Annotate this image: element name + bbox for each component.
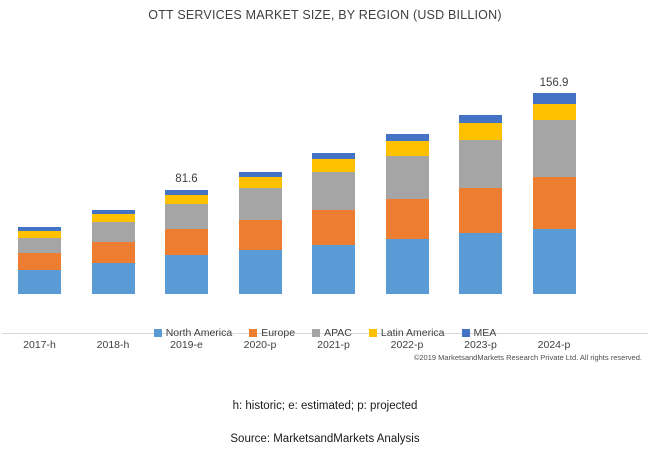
legend-swatch-icon: [312, 329, 320, 337]
bar-segment-europe[interactable]: [18, 253, 61, 270]
legend-swatch-icon: [154, 329, 162, 337]
x-axis-tick-label: 2024-p: [519, 339, 590, 351]
bar-segment-apac[interactable]: [92, 222, 135, 242]
stacked-bar[interactable]: [386, 134, 429, 294]
bar-segment-north-america[interactable]: [18, 270, 61, 294]
bar-group[interactable]: [459, 1, 502, 294]
bar-group[interactable]: [312, 1, 355, 294]
bar-segment-latin-america[interactable]: [312, 159, 355, 172]
x-axis-tick-label: 2021-p: [298, 339, 369, 351]
stacked-bar[interactable]: [533, 93, 576, 294]
x-axis-tick-label: 2022-p: [372, 339, 443, 351]
legend-item-north-america[interactable]: North America: [154, 327, 233, 339]
bar-group[interactable]: [239, 1, 282, 294]
bar-segment-latin-america[interactable]: [386, 141, 429, 156]
stacked-bar[interactable]: [239, 172, 282, 294]
legend-item-mea[interactable]: MEA: [462, 327, 497, 339]
x-axis-tick-label: 2018-h: [78, 339, 149, 351]
bar-segment-north-america[interactable]: [239, 250, 282, 294]
bar-segment-latin-america[interactable]: [459, 123, 502, 140]
bar-group[interactable]: 81.6: [165, 1, 208, 294]
legend-label: Europe: [261, 327, 295, 339]
bar-group[interactable]: [92, 1, 135, 294]
stacked-bar[interactable]: [18, 227, 61, 294]
copyright-text: ©2019 MarketsandMarkets Research Private…: [414, 353, 642, 362]
bar-segment-mea[interactable]: [533, 93, 576, 104]
chart-container: OTT SERVICES MARKET SIZE, BY REGION (USD…: [0, 0, 650, 463]
bar-segment-apac[interactable]: [165, 204, 208, 229]
bar-value-label: 156.9: [511, 77, 598, 89]
bar-segment-apac[interactable]: [18, 238, 61, 253]
legend-label: North America: [166, 327, 233, 339]
bar-segment-apac[interactable]: [459, 140, 502, 189]
bar-segment-apac[interactable]: [239, 188, 282, 220]
bar-value-label: 81.6: [143, 173, 230, 185]
x-axis-tick-label: 2023-p: [445, 339, 516, 351]
bar-segment-mea[interactable]: [459, 115, 502, 123]
legend-label: MEA: [474, 327, 497, 339]
bar-segment-europe[interactable]: [312, 210, 355, 245]
stacked-bar[interactable]: [92, 209, 135, 294]
bar-segment-north-america[interactable]: [92, 263, 135, 294]
x-axis-tick-label: 2020-p: [225, 339, 296, 351]
plot-area: 2017-h2018-h81.62019-e2020-p2021-p2022-p…: [0, 40, 650, 294]
source-text: Source: MarketsandMarkets Analysis: [0, 433, 650, 445]
stacked-bar[interactable]: [312, 152, 355, 294]
bar-segment-europe[interactable]: [459, 188, 502, 233]
bar-group[interactable]: [18, 1, 61, 294]
x-axis-tick-label: 2019-e: [151, 339, 222, 351]
legend-item-latin-america[interactable]: Latin America: [369, 327, 445, 339]
bar-segment-latin-america[interactable]: [533, 104, 576, 120]
bar-segment-north-america[interactable]: [459, 233, 502, 294]
legend-item-europe[interactable]: Europe: [249, 327, 295, 339]
legend-item-apac[interactable]: APAC: [312, 327, 352, 339]
legend-swatch-icon: [462, 329, 470, 337]
legend-label: APAC: [324, 327, 352, 339]
bar-segment-north-america[interactable]: [165, 255, 208, 294]
bar-segment-europe[interactable]: [92, 242, 135, 263]
bar-segment-apac[interactable]: [533, 120, 576, 177]
bar-segment-europe[interactable]: [533, 177, 576, 228]
bar-segment-north-america[interactable]: [386, 239, 429, 294]
bar-segment-mea[interactable]: [386, 134, 429, 141]
legend-label: Latin America: [381, 327, 445, 339]
stacked-bar[interactable]: [165, 189, 208, 294]
x-axis-tick-label: 2017-h: [4, 339, 75, 351]
note-legend-text: h: historic; e: estimated; p: projected: [0, 400, 650, 412]
bar-segment-latin-america[interactable]: [165, 195, 208, 205]
bar-segment-europe[interactable]: [386, 199, 429, 239]
bar-segment-latin-america[interactable]: [92, 214, 135, 222]
bar-group[interactable]: 156.9: [533, 1, 576, 294]
bar-segment-europe[interactable]: [165, 229, 208, 255]
bar-segment-apac[interactable]: [386, 156, 429, 199]
legend-swatch-icon: [249, 329, 257, 337]
bar-segment-north-america[interactable]: [312, 245, 355, 294]
stacked-bar[interactable]: [459, 115, 502, 294]
chart-legend: North AmericaEuropeAPACLatin AmericaMEA: [0, 327, 650, 339]
bar-segment-europe[interactable]: [239, 220, 282, 250]
bar-segment-north-america[interactable]: [533, 229, 576, 294]
bar-segment-latin-america[interactable]: [239, 177, 282, 188]
legend-swatch-icon: [369, 329, 377, 337]
bar-segment-apac[interactable]: [312, 172, 355, 210]
bar-group[interactable]: [386, 1, 429, 294]
